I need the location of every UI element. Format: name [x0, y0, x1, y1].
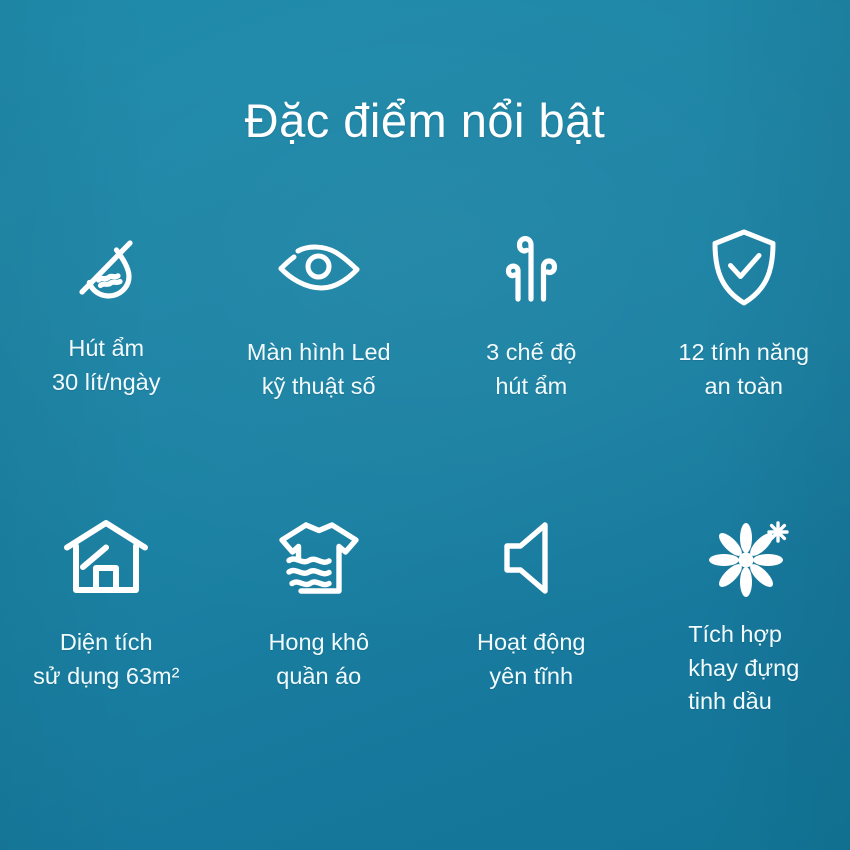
feature-caption: Màn hình Led kỹ thuật số	[247, 336, 391, 403]
feature-item-three-modes: 3 chế độ hút ẩm	[425, 222, 638, 403]
house-icon	[63, 512, 149, 604]
feature-item-clothes-drying: Hong khô quần áo	[213, 512, 426, 719]
feature-row-top: Hút ẩm 30 lít/ngày Màn hình Led kỹ thuật…	[0, 222, 850, 403]
shield-check-icon	[708, 222, 780, 314]
tshirt-airflow-icon	[277, 512, 361, 604]
feature-item-essential-oil-tray: Tích hợp khay đựng tinh dầu	[638, 512, 850, 719]
feature-item-safety-features: 12 tính năng an toàn	[638, 222, 850, 403]
feature-caption: 12 tính năng an toàn	[678, 336, 809, 403]
feature-item-quiet-operation: Hoạt động yên tĩnh	[425, 512, 638, 719]
feature-item-coverage-area: Diện tích sử dụng 63m²	[0, 512, 213, 719]
feature-item-dehumidify-capacity: Hút ẩm 30 lít/ngày	[0, 222, 213, 403]
eye-icon	[276, 222, 362, 314]
flower-sparkle-icon	[710, 512, 794, 604]
feature-row-bottom: Diện tích sử dụng 63m² Hong khô quần áo	[0, 512, 850, 719]
feature-caption: Hoạt động yên tĩnh	[477, 626, 585, 693]
speaker-mute-icon	[501, 512, 561, 604]
feature-caption: Tích hợp khay đựng tinh dầu	[688, 618, 799, 719]
feature-caption: Hong khô quần áo	[268, 626, 369, 693]
feature-item-led-display: Màn hình Led kỹ thuật số	[213, 222, 426, 403]
page-title: Đặc điểm nổi bật	[0, 93, 850, 149]
feature-caption: Hút ẩm 30 lít/ngày	[52, 332, 160, 399]
feature-caption: 3 chế độ hút ẩm	[486, 336, 576, 403]
airflow-curls-icon	[499, 222, 563, 314]
water-drop-crossed-icon	[69, 222, 143, 314]
feature-caption: Diện tích sử dụng 63m²	[33, 626, 179, 693]
feature-poster: Đặc điểm nổi bật Hút ẩm 30 lít/ngày	[0, 0, 850, 850]
